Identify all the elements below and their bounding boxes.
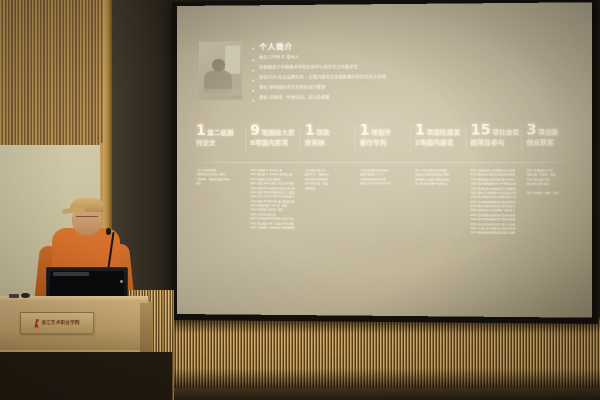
- detail-line: 2021 创青春 · 省级 三等奖: [527, 192, 573, 197]
- stat-subline: 府采纳: [305, 139, 350, 147]
- stat-unit: 篇二级期: [207, 130, 233, 137]
- stat-headline: 1 篇二级期: [196, 124, 240, 138]
- stat-item: 1 项软件 著作专利: [355, 124, 410, 147]
- detail-line: 2023 年全国高等学校美术与设计作品大赛 一等奖: [250, 217, 294, 222]
- projection-screen: 个人简介 姓名:1996.6 温州人 目前就读于中国美术学院文创中心研究生三年级…: [177, 2, 592, 317]
- statistics-row: 1 篇二级期 刊论文 9 项国际大奖 8项国内奖项 1 项政: [191, 123, 578, 147]
- stat-item: 1 篇二级期 刊论文: [191, 124, 245, 147]
- presentation-slide: 个人简介 姓名:1996.6 温州人 目前就读于中国美术学院文创中心研究生三年级…: [177, 2, 592, 317]
- laptop-led-indicator: [120, 280, 123, 283]
- detail-column: 《乡村振兴数字化服务平台》 被丽水市景宁县政府采纳并应用于乡村文化 · 建设实践…: [300, 169, 355, 191]
- computer-mouse[interactable]: [21, 293, 30, 298]
- wood-slat-wall-shading: [170, 318, 600, 390]
- desk-object: [9, 294, 19, 298]
- stat-item: 3 项创新 创业获奖: [521, 123, 577, 147]
- detail-line: 2021 '互联网+' 创新创业大赛省级赛区 银奖: [250, 226, 294, 231]
- stat-headline: 1 项政: [305, 124, 350, 138]
- bio-line: 爱好:羽毛球、竹角运动、设计品收藏: [259, 95, 329, 101]
- detail-line: 2021 金华东阳木雕非遗传承活化项目: [471, 218, 517, 223]
- stat-item: 15 项社会实 践项目参与: [465, 123, 521, 147]
- bio-line: 研究方向:自主品牌实验 - 主要内容为文化赋能模式研究与设计实践: [259, 74, 386, 80]
- detail-line: 登记号 2023SR0XXXXXX: [360, 182, 405, 186]
- podium-base-shadow: [0, 352, 172, 400]
- stat-number: 1: [360, 124, 370, 138]
- bullet-dot-icon: [252, 100, 254, 102]
- stat-subline: 刊论文: [196, 139, 240, 147]
- stat-item: 1 项政 府采纳: [300, 124, 355, 147]
- stat-unit: 项政: [316, 130, 329, 137]
- detail-column: 2023 云和木玩产业品牌振兴设计实践2023 丽水景宁畲族文化视觉活化项目20…: [465, 169, 521, 236]
- bio-text: 个人简介 姓名:1996.6 温州人 目前就读于中国美术学院文创中心研究生三年级…: [252, 39, 567, 105]
- institution-logo-icon: [34, 319, 39, 328]
- stat-subline: 8项国内奖项: [250, 139, 294, 147]
- detail-line: 2022 温州泰顺廊桥文化 IP 开发设计服务: [471, 183, 517, 188]
- bullet-dot-icon: [252, 60, 254, 62]
- stat-subline: 践项目参与: [471, 139, 517, 147]
- glasses-icon: [76, 216, 98, 221]
- stat-number: 1: [415, 123, 425, 137]
- bio-line-row: 研究方向:自主品牌实验 - 主要内容为文化赋能模式研究与设计实践: [252, 73, 567, 82]
- laptop-brand-strip: [53, 272, 89, 276]
- stat-item: 1 项国际展览 2场国内展览: [410, 123, 466, 146]
- bio-line-row: 姓名:1996.6 温州人: [252, 53, 567, 62]
- bio-line: 姓名:1996.6 温州人: [259, 55, 299, 61]
- stat-headline: 9 项国际大奖: [250, 124, 294, 138]
- stat-number: 3: [527, 123, 537, 137]
- podium-nameplate: 浙江艺术职业学院: [20, 312, 94, 334]
- stat-unit: 项国际大奖: [262, 130, 295, 137]
- detail-line: 2020 丽水松阳老屋改造活化设计调研: [471, 231, 517, 236]
- detail-column: 2023 中国国际大学生创新大赛 '互联网+' 银奖2022 浙江省大学生创业创…: [521, 169, 577, 196]
- bio-block: 个人简介 姓名:1996.6 温州人 目前就读于中国美术学院文创中心研究生三年级…: [199, 39, 567, 105]
- wood-slat-shading-left: [0, 0, 110, 145]
- stat-number: 1: [305, 124, 315, 138]
- stat-headline: 1 项国际展览: [415, 123, 460, 137]
- detail-column: 米兰 2023 国际设计周展览深圳设计周中国新锐设计师展中国国际工业设计博览会展…: [410, 169, 466, 187]
- stat-number: 15: [471, 123, 491, 137]
- stat-number: 1: [196, 124, 206, 138]
- stat-number: 9: [250, 124, 260, 138]
- detail-column: 2023 金钥匙 A' Design 奖2023 意大利 A' Design 国…: [245, 169, 300, 231]
- bio-line-row: 爱好:羽毛球、竹角运动、设计品收藏: [252, 94, 567, 102]
- stat-item: 9 项国际大奖 8项国内奖项: [245, 124, 300, 147]
- stat-unit: 项软件: [371, 130, 391, 137]
- detail-column: 《文化品牌视觉识别系统辅助生成软件 V1.0》计算机软件著作权登记登记号 202…: [355, 169, 410, 187]
- bio-line: 擅长:带领团队合作及项目设计管理: [259, 85, 325, 91]
- portrait-window: [225, 46, 240, 74]
- stat-unit: 项社会实: [492, 129, 519, 136]
- podium-sign-text: 浙江艺术职业学院: [41, 320, 79, 326]
- bullet-dot-icon: [252, 47, 254, 49]
- portrait-desk: [199, 89, 242, 96]
- detail-line: 收录: [196, 182, 240, 186]
- stat-headline: 1 项软件: [360, 124, 405, 138]
- bio-title: 个人简介: [259, 42, 293, 52]
- stat-headline: 3 项创新: [527, 123, 573, 137]
- detail-line: 实践项目: [305, 187, 350, 191]
- microphone-icon: [106, 228, 111, 235]
- lecture-hall-photo: 个人简介 姓名:1996.6 温州人 目前就读于中国美术学院文创中心研究生三年级…: [0, 0, 600, 400]
- stat-subline: 著作专利: [360, 139, 405, 147]
- detail-columns: 《乡土美育的路径与模式化设计研究》 期刊二级刊物 · 中国文创设计年鉴收录202…: [191, 169, 578, 236]
- bio-title-row: 个人简介: [252, 40, 567, 52]
- bullet-dot-icon: [252, 80, 254, 82]
- stat-subline: 创业获奖: [527, 139, 573, 147]
- stats-divider-rule: [191, 162, 578, 163]
- stat-headline: 15 项社会实: [471, 123, 517, 137]
- detail-column: 《乡土美育的路径与模式化设计研究》 期刊二级刊物 · 中国文创设计年鉴收录: [191, 169, 245, 187]
- speaker-portrait-photo: [199, 42, 242, 100]
- stat-unit: 项创新: [538, 129, 559, 136]
- bullet-dot-icon: [252, 90, 254, 92]
- bio-line-row: 目前就读于中国美术学院文创中心研究生三年级学生: [252, 63, 567, 72]
- bio-line: 目前就读于中国美术学院文创中心研究生三年级学生: [259, 64, 358, 70]
- bio-line-row: 擅长:带领团队合作及项目设计管理: [252, 84, 567, 92]
- detail-line: 2023 美国 IDEA 国际工业设计优秀奖: [250, 182, 294, 186]
- stat-unit: 项国际展览: [426, 130, 460, 137]
- detail-line: 浙江省 文化创意产业博览会: [415, 182, 460, 187]
- stat-subline: 2场国内展览: [415, 139, 460, 147]
- bullet-dot-icon: [252, 70, 254, 72]
